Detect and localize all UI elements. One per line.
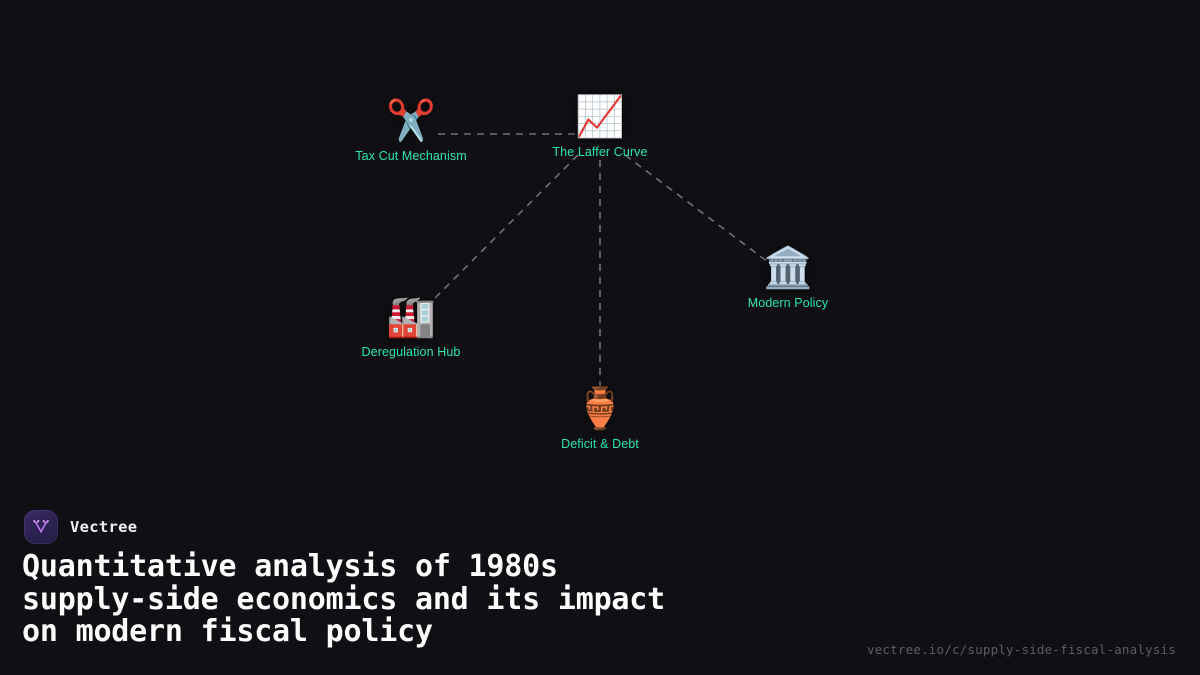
knowledge-graph-canvas[interactable]: ✂️Tax Cut Mechanism📈The Laffer Curve🏭Der… — [0, 0, 1200, 500]
factory-icon: 🏭 — [386, 294, 436, 340]
graph-node-label: Tax Cut Mechanism — [355, 149, 466, 164]
graph-node-deregulation-hub[interactable]: 🏭Deregulation Hub — [311, 294, 511, 360]
graph-node-label: Deregulation Hub — [362, 345, 461, 360]
graph-node-modern-policy[interactable]: 🏛️Modern Policy — [688, 245, 888, 311]
graph-node-label: Deficit & Debt — [561, 437, 639, 452]
brand-row[interactable]: Vectree — [24, 510, 137, 544]
graph-node-tax-cut-mechanism[interactable]: ✂️Tax Cut Mechanism — [311, 98, 511, 164]
share-url: vectree.io/c/supply-side-fiscal-analysis — [867, 642, 1176, 657]
page-title: Quantitative analysis of 1980s supply-si… — [22, 551, 832, 649]
amphora-icon: 🏺 — [575, 386, 625, 432]
vectree-logo-icon — [24, 510, 58, 544]
classical-building-icon: 🏛️ — [763, 245, 813, 291]
chart-increasing-icon: 📈 — [575, 94, 625, 140]
footer-bar: Vectree Quantitative analysis of 1980s s… — [0, 485, 1200, 675]
brand-name: Vectree — [70, 518, 137, 536]
scissors-icon: ✂️ — [386, 98, 436, 144]
graph-edge-the-laffer-curve-to-deregulation-hub — [428, 155, 578, 305]
graph-node-the-laffer-curve[interactable]: 📈The Laffer Curve — [500, 94, 700, 160]
graph-node-label: Modern Policy — [748, 296, 829, 311]
graph-node-label: The Laffer Curve — [552, 145, 647, 160]
graph-node-deficit-and-debt[interactable]: 🏺Deficit & Debt — [500, 386, 700, 452]
